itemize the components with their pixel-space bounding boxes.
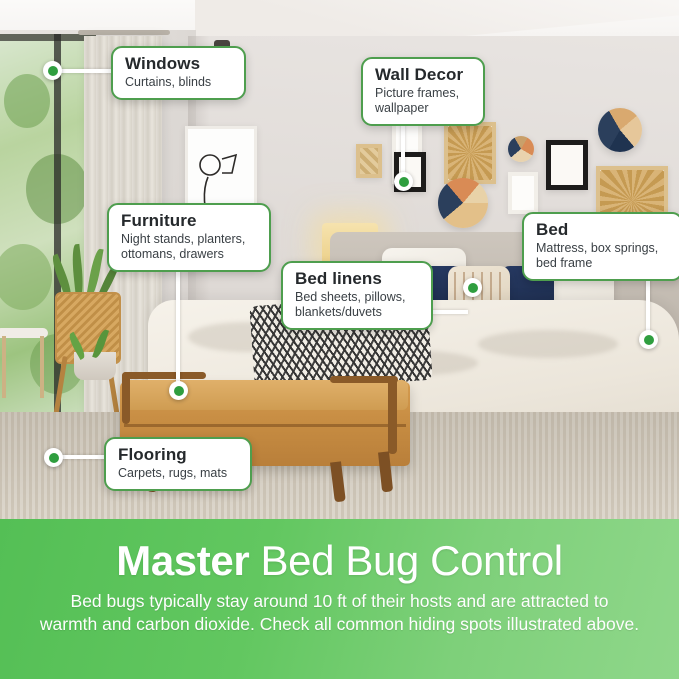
callout-title-wall-decor: Wall Decor xyxy=(375,65,471,85)
bedroom-photo: Windows Curtains, blinds Wall Decor Pict… xyxy=(0,0,679,519)
callout-bed-linens[interactable]: Bed linens Bed sheets, pillows, blankets… xyxy=(281,261,433,330)
callout-subtitle-flooring: Carpets, rugs, mats xyxy=(118,466,238,481)
window-glass xyxy=(0,34,96,464)
bench-arm-rail xyxy=(330,376,398,383)
picture-frame xyxy=(444,122,496,184)
side-table-leg xyxy=(2,336,6,398)
picture-frame xyxy=(356,144,382,178)
callout-title-flooring: Flooring xyxy=(118,445,238,465)
woven-basket xyxy=(508,136,534,162)
callout-windows[interactable]: Windows Curtains, blinds xyxy=(111,46,246,100)
hotspot-dot-bed-linens xyxy=(463,278,482,297)
infographic-root: Windows Curtains, blinds Wall Decor Pict… xyxy=(0,0,679,679)
callout-furniture[interactable]: Furniture Night stands, planters, ottoma… xyxy=(107,203,271,272)
callout-title-furniture: Furniture xyxy=(121,211,257,231)
banner-title-strong: Master xyxy=(116,537,249,584)
callout-subtitle-windows: Curtains, blinds xyxy=(125,75,232,90)
callout-flooring[interactable]: Flooring Carpets, rugs, mats xyxy=(104,437,252,491)
bench-arm-rail xyxy=(388,376,397,454)
picture-frame xyxy=(508,172,538,214)
bench-arm-rail xyxy=(122,372,130,424)
hotspot-dot-furniture xyxy=(169,381,188,400)
callout-bed[interactable]: Bed Mattress, box springs, bed frame xyxy=(522,212,679,281)
promo-banner: Master Bed Bug Control Bed bugs typicall… xyxy=(0,519,679,679)
callout-wall-decor[interactable]: Wall Decor Picture frames, wallpaper xyxy=(361,57,485,126)
hotspot-dot-windows xyxy=(43,61,62,80)
callout-title-bed-linens: Bed linens xyxy=(295,269,419,289)
bench-panel-line xyxy=(124,424,406,427)
banner-title-rest: Bed Bug Control xyxy=(249,537,562,584)
bench-arm-rail xyxy=(122,372,206,379)
window-frame-top xyxy=(0,34,96,41)
picture-frame xyxy=(546,140,588,190)
callout-title-bed: Bed xyxy=(536,220,669,240)
hotspot-dot-bed xyxy=(639,330,658,349)
callout-title-windows: Windows xyxy=(125,54,232,74)
banner-body-text: Bed bugs typically stay around 10 ft of … xyxy=(40,590,640,637)
foliage-blob xyxy=(4,74,50,128)
hotspot-dot-wall-decor xyxy=(394,172,413,191)
hotspot-dot-flooring xyxy=(44,448,63,467)
callout-subtitle-wall-decor: Picture frames, wallpaper xyxy=(375,86,471,117)
side-table-leg xyxy=(40,336,44,398)
curtain-rod xyxy=(78,30,170,35)
callout-subtitle-furniture: Night stands, planters, ottomans, drawer… xyxy=(121,232,257,263)
callout-subtitle-bed-linens: Bed sheets, pillows, blankets/duvets xyxy=(295,290,419,321)
woven-basket xyxy=(598,108,642,152)
woven-basket xyxy=(438,178,488,228)
bench-cushion xyxy=(122,380,408,410)
callout-subtitle-bed: Mattress, box springs, bed frame xyxy=(536,241,669,272)
foliage-blob xyxy=(0,244,52,310)
banner-title: Master Bed Bug Control xyxy=(0,519,679,584)
